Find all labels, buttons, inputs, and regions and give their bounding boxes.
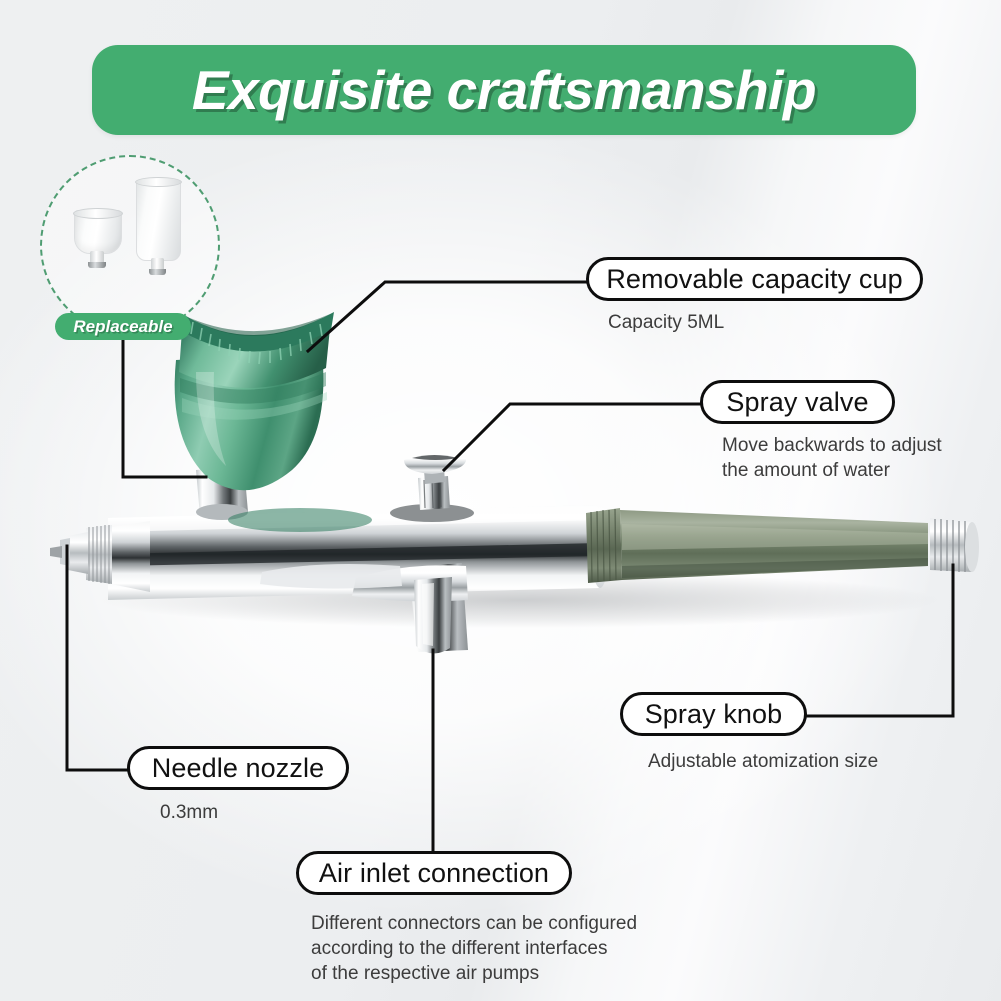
callout-label: Needle nozzle <box>152 753 324 784</box>
cup-rim <box>135 177 182 187</box>
callout-removable-capacity-cup: Removable capacity cup <box>586 257 923 301</box>
tall-capacity-cup-icon <box>136 179 179 277</box>
cup-foot <box>88 262 106 268</box>
replaceable-badge-label: Replaceable <box>73 317 172 337</box>
callout-needle-nozzle: Needle nozzle <box>127 746 349 790</box>
cup-foot <box>149 269 166 275</box>
cup-body <box>136 179 181 261</box>
callout-description-inlet: Different connectors can be configured a… <box>311 911 637 986</box>
callout-label: Spray valve <box>726 387 868 418</box>
callout-description-cup: Capacity 5ML <box>608 310 724 335</box>
callout-label: Removable capacity cup <box>606 264 902 295</box>
callout-spray-valve: Spray valve <box>700 380 895 424</box>
cup-rim <box>73 208 123 219</box>
callout-label: Spray knob <box>645 699 783 730</box>
small-capacity-cup-icon <box>74 210 120 268</box>
dashed-circle-frame <box>40 155 220 335</box>
replaceable-badge: Replaceable <box>55 313 191 340</box>
callout-description-valve: Move backwards to adjust the amount of w… <box>722 433 942 483</box>
callout-air-inlet-connection: Air inlet connection <box>296 851 572 895</box>
callout-description-needle: 0.3mm <box>160 800 218 825</box>
callout-label: Air inlet connection <box>319 858 549 889</box>
replaceable-cups-inset <box>40 155 220 335</box>
infographic-canvas: Exquisite craftsmanship <box>0 0 1001 1001</box>
callout-description-knob: Adjustable atomization size <box>648 749 878 774</box>
callout-spray-knob: Spray knob <box>620 692 807 736</box>
